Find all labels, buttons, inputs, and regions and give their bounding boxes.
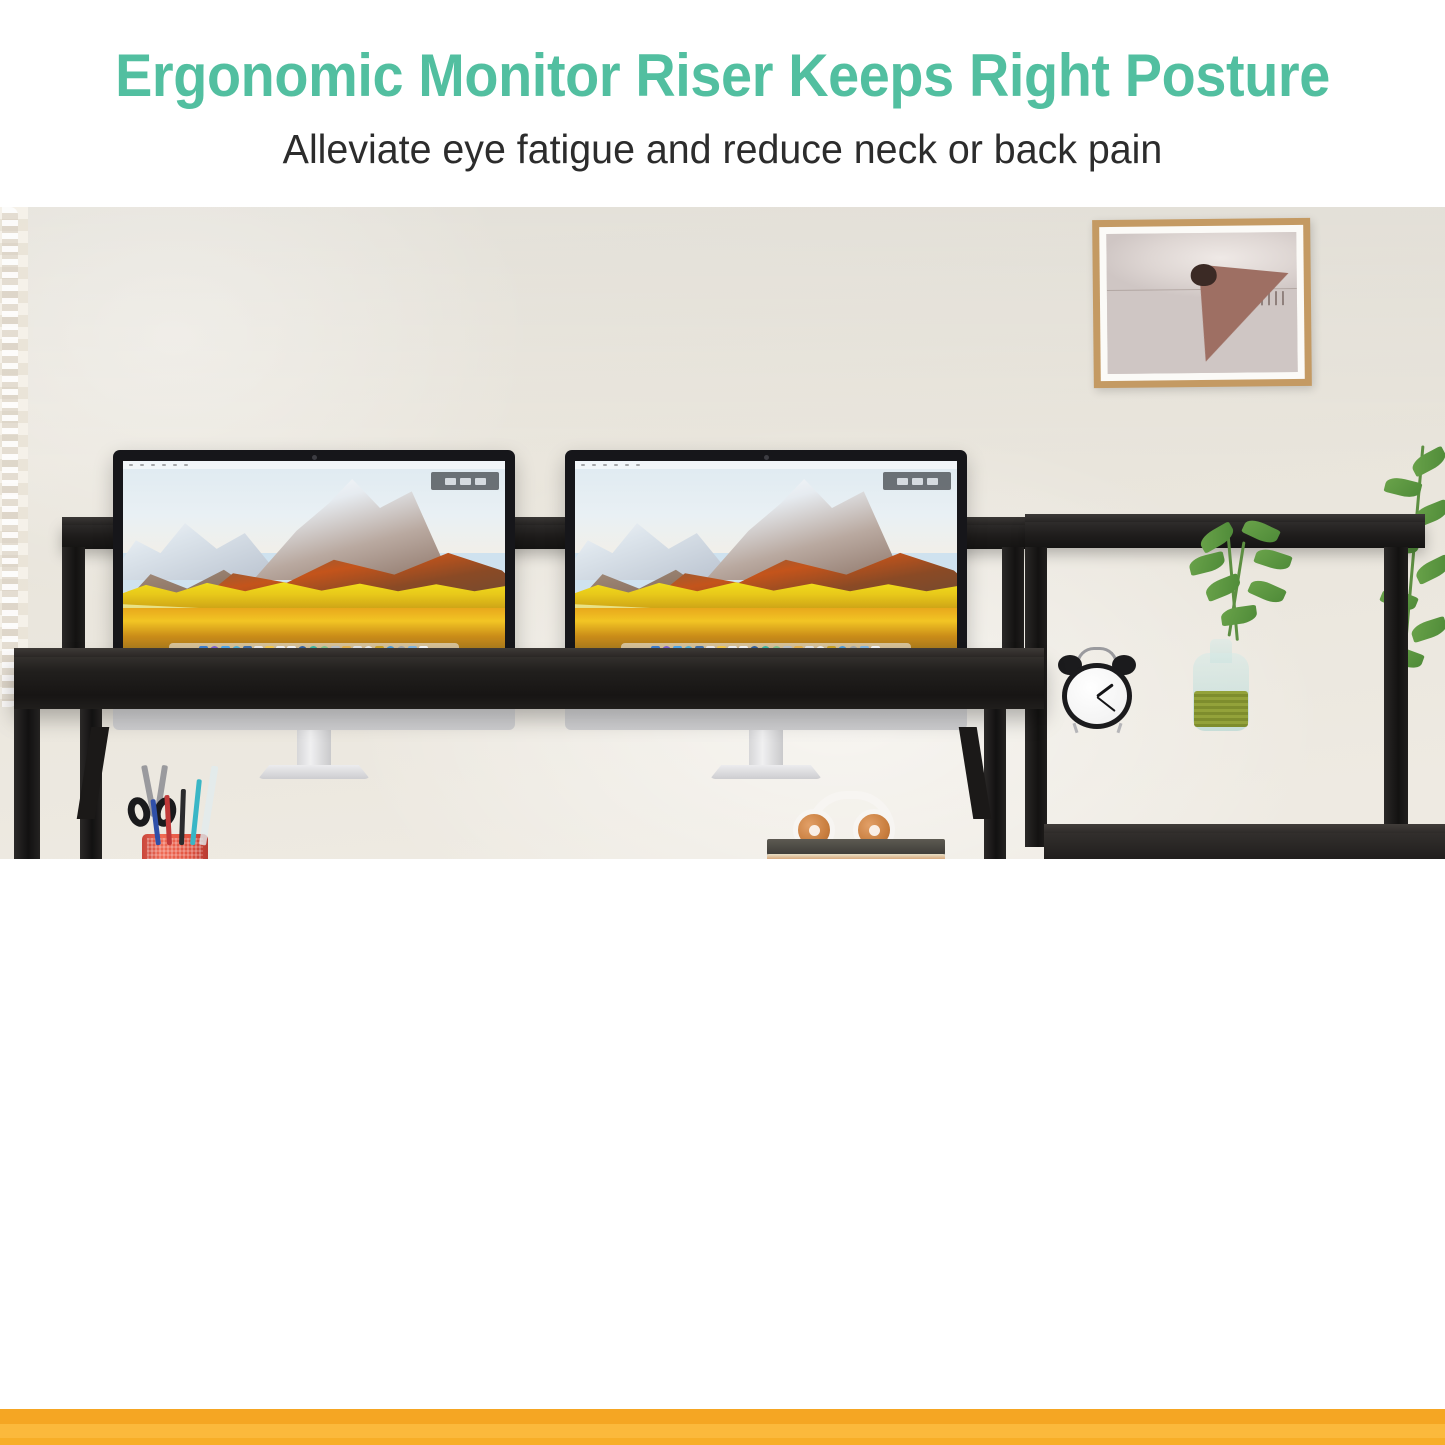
wall-art-frame bbox=[1092, 218, 1312, 388]
page-subtitle: Alleviate eye fatigue and reduce neck or… bbox=[29, 127, 1416, 172]
webcam-icon bbox=[764, 455, 769, 460]
monitor-screen bbox=[123, 461, 505, 660]
floor-stripe bbox=[0, 1409, 1445, 1425]
page-title: Ergonomic Monitor Riser Keeps Right Post… bbox=[51, 44, 1395, 107]
floor-stripe bbox=[0, 1424, 1445, 1439]
monitor-bezel bbox=[565, 450, 967, 678]
pen-holder bbox=[142, 834, 208, 859]
book-stack: THRIFT bbox=[767, 839, 945, 859]
menu-bar bbox=[575, 461, 957, 469]
desk-leg bbox=[14, 709, 40, 859]
desk-surface bbox=[14, 655, 1044, 709]
product-photo: THRIFT EPSON EPSON bbox=[0, 207, 1445, 859]
riser-leg bbox=[1384, 547, 1408, 847]
menu-bar bbox=[123, 461, 505, 469]
webcam-icon bbox=[312, 455, 317, 460]
desktop-wallpaper bbox=[123, 461, 505, 660]
header-banner: Ergonomic Monitor Riser Keeps Right Post… bbox=[0, 0, 1445, 207]
monitor-foot bbox=[710, 765, 822, 779]
art-figure-head bbox=[1190, 264, 1216, 286]
desktop-wallpaper bbox=[575, 461, 957, 660]
monitor-bezel bbox=[113, 450, 515, 678]
notification-popup bbox=[431, 472, 499, 490]
floor-stripe bbox=[0, 1438, 1445, 1445]
curtain bbox=[0, 207, 28, 707]
desk-leg bbox=[984, 709, 1006, 859]
desk-surface-right bbox=[1044, 833, 1445, 859]
glass-vase bbox=[1193, 639, 1249, 731]
monitor-foot bbox=[258, 765, 370, 779]
monitor-screen bbox=[575, 461, 957, 660]
notification-popup bbox=[883, 472, 951, 490]
imac-right bbox=[565, 450, 967, 780]
vase-wrap bbox=[1194, 691, 1248, 727]
posture-comparison-illustration bbox=[0, 859, 1445, 1445]
imac-left bbox=[113, 450, 515, 780]
alarm-clock bbox=[1058, 647, 1136, 729]
monitor-neck bbox=[297, 730, 331, 768]
vase-plant bbox=[1187, 521, 1307, 651]
book bbox=[767, 839, 945, 855]
art-image bbox=[1106, 232, 1297, 374]
monitor-neck bbox=[749, 730, 783, 768]
